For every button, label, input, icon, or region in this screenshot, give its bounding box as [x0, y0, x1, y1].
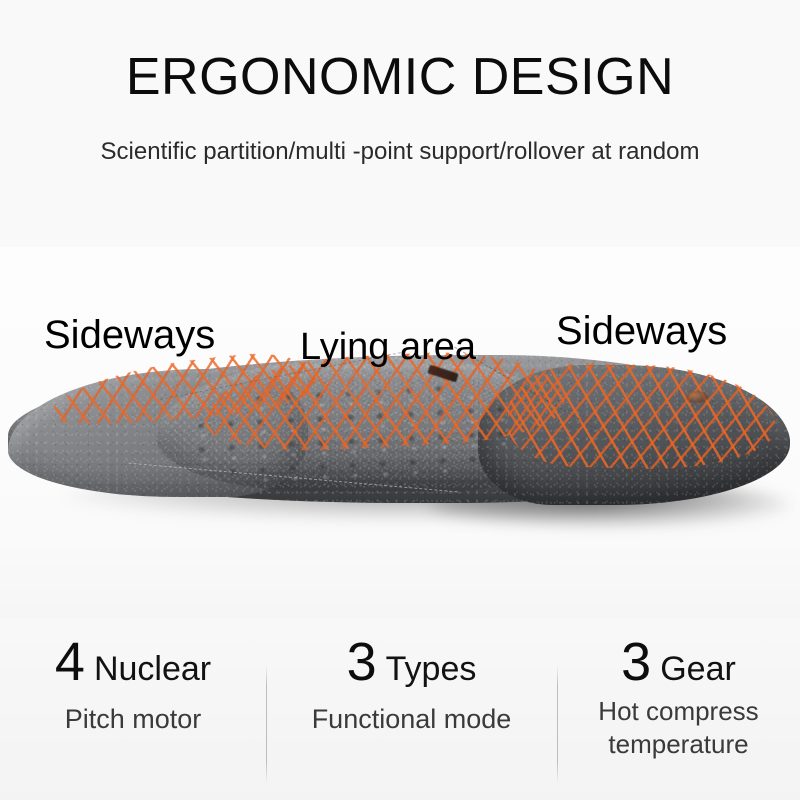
feature-hot-compress: 3 Gear Hot compress temperature [557, 619, 800, 800]
feature-description-3: Hot compress temperature [557, 695, 800, 761]
control-detail [686, 391, 708, 403]
product-banner: ERGONOMIC DESIGN Scientific partition/mu… [0, 0, 800, 800]
feature-number-3: 3 [621, 633, 651, 691]
feature-headline-1: 4 Nuclear [0, 633, 266, 691]
header-section: ERGONOMIC DESIGN Scientific partition/mu… [0, 0, 800, 247]
page-subtitle: Scientific partition/multi -point suppor… [0, 137, 800, 167]
feature-description-1: Pitch motor [0, 702, 266, 736]
pillow-body [8, 355, 790, 503]
feature-description-2: Functional mode [266, 702, 557, 736]
feature-number-2: 3 [347, 633, 377, 691]
feature-unit-1: Nuclear [94, 649, 211, 689]
feature-pitch-motor: 4 Nuclear Pitch motor [0, 619, 266, 800]
feature-row: 4 Nuclear Pitch motor 3 Types Functional… [0, 619, 800, 800]
feature-unit-2: Types [386, 649, 477, 689]
feature-functional-mode: 3 Types Functional mode [266, 619, 557, 800]
feature-headline-2: 3 Types [266, 633, 557, 691]
orange-grid-right [506, 360, 777, 473]
zone-label-sideways-left: Sideways [44, 312, 215, 358]
zone-label-lying-area: Lying area [300, 324, 476, 370]
page-title: ERGONOMIC DESIGN [0, 48, 800, 106]
feature-number-1: 4 [55, 633, 85, 691]
feature-unit-3: Gear [660, 649, 736, 689]
feature-headline-3: 3 Gear [557, 633, 800, 691]
zone-label-sideways-right: Sideways [556, 308, 727, 354]
product-photo: YourN [0, 247, 800, 619]
